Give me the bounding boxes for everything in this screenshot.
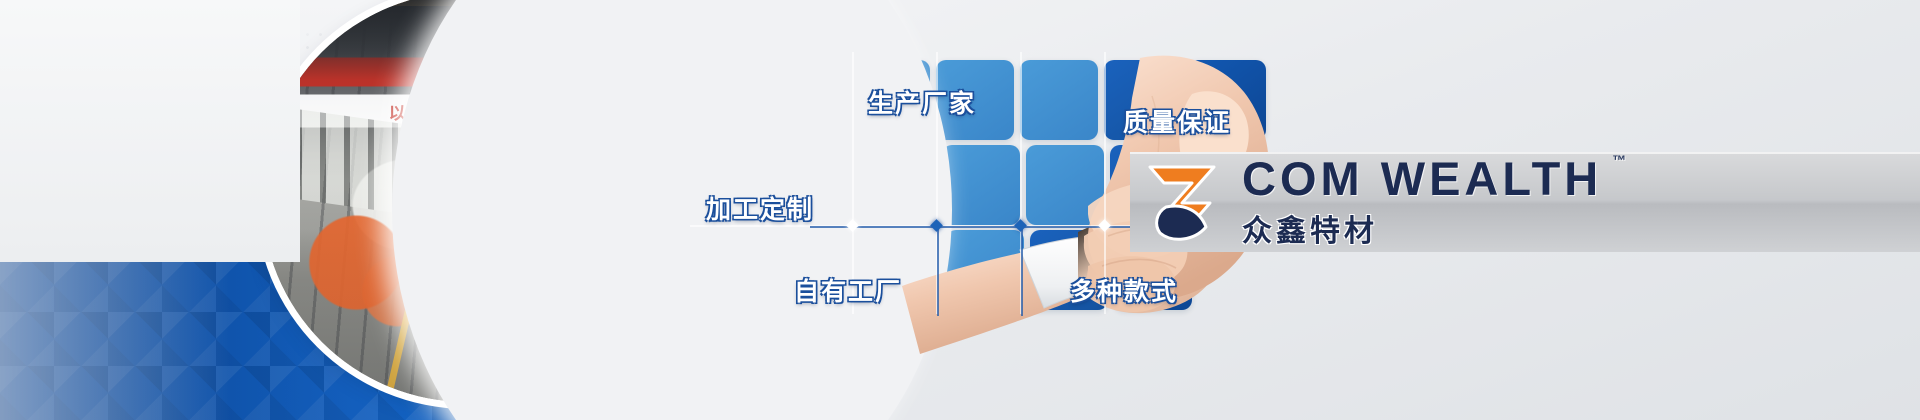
promo-banner: 以精立业	[0, 0, 1920, 420]
band-left-fade	[0, 258, 230, 420]
tile-mid-e	[1026, 145, 1104, 225]
label-customization: 加工定制	[706, 190, 814, 226]
trademark-icon: ™	[1612, 154, 1626, 168]
label-manufacturer: 生产厂家	[868, 84, 976, 120]
tile-manufacturer-c	[1020, 60, 1098, 140]
logo-plate: COM WEALTH ™ 众鑫特材	[1130, 152, 1920, 252]
left-background-panel	[0, 0, 300, 262]
tile-mid-d	[942, 145, 1020, 225]
logo-text-block: COM WEALTH ™ 众鑫特材	[1242, 154, 1602, 250]
label-quality: 质量保证	[1123, 103, 1231, 139]
label-own-factory: 自有工厂	[794, 272, 902, 308]
white-swoosh-shape	[392, 0, 952, 420]
z-arrow-mark-icon	[1136, 159, 1228, 245]
logo-english-name: COM WEALTH ™	[1242, 156, 1602, 202]
logo-chinese-name: 众鑫特材	[1242, 206, 1602, 250]
tile-factory-c	[946, 230, 1024, 310]
logo-english-text: COM WEALTH	[1242, 152, 1602, 205]
label-many-styles: 多种款式	[1070, 272, 1178, 308]
